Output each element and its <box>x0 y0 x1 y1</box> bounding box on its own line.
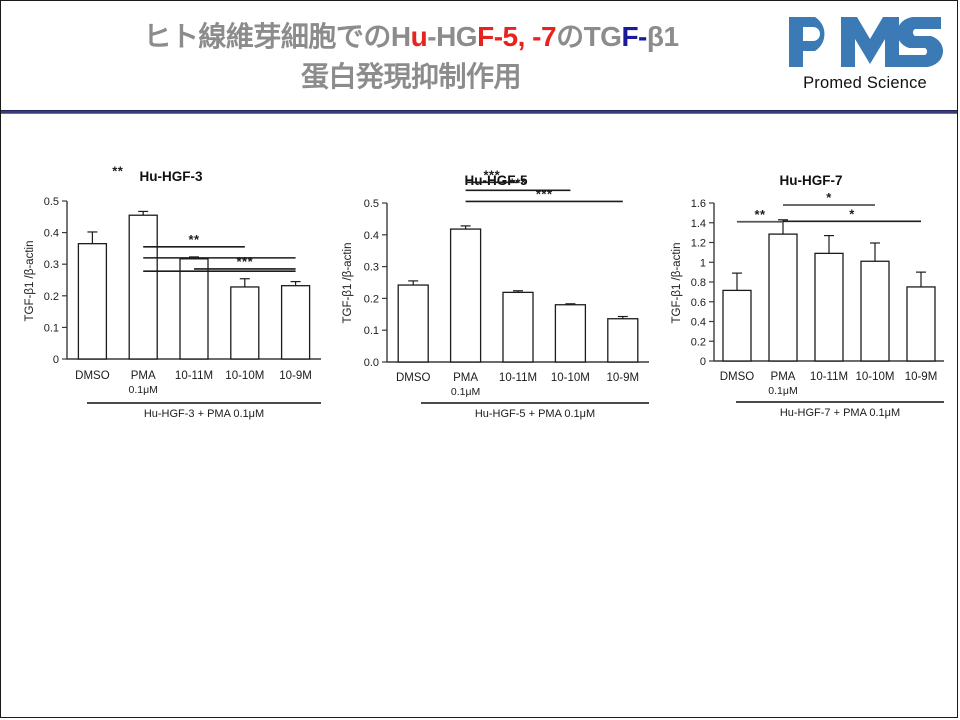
x-tick-label: PMA <box>771 371 796 383</box>
significance-stars: ** <box>754 207 766 222</box>
x-tick-label: 10-11M <box>499 372 537 384</box>
y-tick-label: 0.1 <box>44 322 59 334</box>
significance-stars: *** <box>236 254 253 269</box>
pms-logo-icon <box>785 11 945 73</box>
bar-10-10M <box>861 261 889 361</box>
significance-stars: ** <box>112 164 124 179</box>
y-tick-label: 0 <box>700 356 706 368</box>
x-tick-label: 10-9M <box>905 371 938 383</box>
x-tick-sublabel: 0.1μM <box>768 385 797 397</box>
charts-row: Hu-HGF-3 00.10.20.30.40.5TGF-β1 /β-actin… <box>1 121 957 441</box>
bar-chart-hu-hgf-7: 00.20.40.60.811.21.41.6TGF-β1 /β-actin**… <box>666 121 956 441</box>
y-tick-label: 0.4 <box>364 230 379 242</box>
x-tick-sublabel: 0.1μM <box>451 386 480 398</box>
bar-10-11M <box>180 259 208 359</box>
page-title-line-2: 蛋白発現抑制作用 <box>41 57 781 97</box>
title-seg-red-u: u <box>411 21 428 52</box>
title-seg-mid-1: -HG <box>427 21 477 52</box>
y-tick-label: 0.2 <box>691 336 706 348</box>
group-label: Hu-HGF-3 + PMA 0.1μM <box>144 408 264 420</box>
y-tick-label: 0.2 <box>44 291 59 303</box>
bar-PMA <box>769 234 797 361</box>
page-title-line-1: ヒト線維芽細胞でのHu-HGF-5, -7のTGF-β1 <box>41 17 781 57</box>
y-tick-label: 0.5 <box>44 196 59 208</box>
x-tick-label: 10-10M <box>856 371 895 383</box>
x-tick-label: DMSO <box>75 370 110 382</box>
bar-10-10M <box>555 305 585 362</box>
bar-PMA <box>451 229 481 362</box>
title-seg-blue-f: F- <box>621 21 646 52</box>
y-tick-label: 1.2 <box>691 238 706 250</box>
x-tick-label: 10-9M <box>606 372 639 384</box>
y-tick-label: 0.0 <box>364 357 379 369</box>
y-tick-label: 0.4 <box>44 228 59 240</box>
y-tick-label: 0.8 <box>691 277 706 289</box>
group-label: Hu-HGF-5 + PMA 0.1μM <box>475 408 595 420</box>
bar-DMSO <box>723 290 751 361</box>
brand-logo-caption: Promed Science <box>781 74 949 93</box>
title-seg-suffix: β1 <box>647 21 679 52</box>
chart-panel-hu-hgf-3: Hu-HGF-3 00.10.20.30.40.5TGF-β1 /β-actin… <box>11 121 331 441</box>
brand-logo: Promed Science <box>781 11 949 99</box>
bar-DMSO <box>398 285 428 362</box>
y-tick-label: 1.4 <box>691 218 706 230</box>
y-tick-label: 0.5 <box>364 198 379 210</box>
group-label: Hu-HGF-7 + PMA 0.1μM <box>780 407 900 419</box>
x-tick-label: 10-11M <box>175 370 213 382</box>
bar-10-11M <box>503 292 533 362</box>
y-tick-label: 0.6 <box>691 297 706 309</box>
x-tick-label: 10-10M <box>225 370 264 382</box>
bar-10-11M <box>815 253 843 361</box>
significance-stars: *** <box>536 186 553 201</box>
bar-10-10M <box>231 287 259 359</box>
y-tick-label: 1.6 <box>691 198 706 210</box>
bar-10-9M <box>282 286 310 359</box>
bar-chart-hu-hgf-3: 00.10.20.30.40.5TGF-β1 /β-actin*******DM… <box>11 121 331 441</box>
slide-canvas: ヒト線維芽細胞でのHu-HGF-5, -7のTGF-β1 蛋白発現抑制作用 Pr… <box>0 0 958 718</box>
significance-stars: ** <box>188 232 200 247</box>
x-tick-label: 10-10M <box>551 372 590 384</box>
bar-DMSO <box>78 244 106 359</box>
y-tick-label: 0.1 <box>364 325 379 337</box>
x-tick-label: DMSO <box>396 372 431 384</box>
significance-stars: * <box>849 206 855 221</box>
y-tick-label: 0.3 <box>44 259 59 271</box>
significance-stars: *** <box>483 167 500 182</box>
x-tick-label: DMSO <box>720 371 755 383</box>
y-axis-title: TGF-β1 /β-actin <box>671 243 683 324</box>
x-tick-label: PMA <box>453 372 478 384</box>
bar-10-9M <box>608 319 638 362</box>
title-seg-red-f57: F-5, -7 <box>477 21 556 52</box>
title-seg-prefix: ヒト線維芽細胞でのH <box>143 21 410 52</box>
bar-PMA <box>129 215 157 359</box>
significance-stars: *** <box>510 175 527 190</box>
x-tick-label: 10-11M <box>810 371 848 383</box>
x-tick-sublabel: 0.1μM <box>128 384 157 396</box>
chart-panel-hu-hgf-5: Hu-HGF-5 0.00.10.20.30.40.5TGF-β1 /β-act… <box>331 121 661 441</box>
slide-header: ヒト線維芽細胞でのHu-HGF-5, -7のTGF-β1 蛋白発現抑制作用 Pr… <box>1 1 957 109</box>
y-tick-label: 0.2 <box>364 293 379 305</box>
chart-panel-hu-hgf-7: Hu-HGF-7 00.20.40.60.811.21.41.6TGF-β1 /… <box>666 121 956 441</box>
header-divider-rule <box>1 110 957 114</box>
y-tick-label: 0 <box>53 354 59 366</box>
y-axis-title: TGF-β1 /β-actin <box>342 243 354 324</box>
x-tick-label: 10-9M <box>279 370 312 382</box>
title-seg-mid-2: のTG <box>556 21 621 52</box>
y-tick-label: 0.3 <box>364 262 379 274</box>
y-tick-label: 1 <box>700 257 706 269</box>
x-tick-label: PMA <box>131 370 156 382</box>
significance-stars: * <box>826 190 832 205</box>
y-tick-label: 0.4 <box>691 317 706 329</box>
page-title: ヒト線維芽細胞でのHu-HGF-5, -7のTGF-β1 蛋白発現抑制作用 <box>41 17 781 97</box>
bar-10-9M <box>907 287 935 361</box>
bar-chart-hu-hgf-5: 0.00.10.20.30.40.5TGF-β1 /β-actin*******… <box>331 121 661 441</box>
y-axis-title: TGF-β1 /β-actin <box>24 241 36 322</box>
